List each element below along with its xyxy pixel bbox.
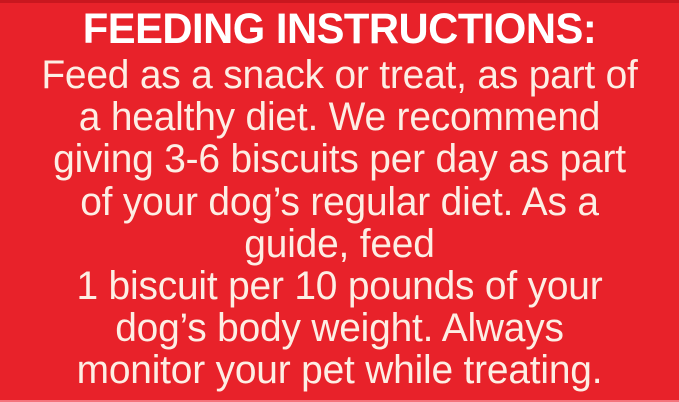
body-line: 1 biscuit per 10 pounds of your [5,265,674,307]
panel-content: FEEDING INSTRUCTIONS: Feed as a snack or… [0,0,679,402]
body-line: of your dog’s regular diet. As a [5,181,674,223]
feeding-instructions-body: Feed as a snack or treat, as part of a h… [0,54,679,392]
body-line: a healthy diet. We recommend [5,96,674,138]
feeding-instructions-heading: FEEDING INSTRUCTIONS: [10,6,669,52]
body-line: guide, feed [5,223,674,265]
body-line: monitor your pet while treating. [5,349,674,391]
body-line: giving 3-6 biscuits per day as part [5,138,674,180]
feeding-instructions-panel: FEEDING INSTRUCTIONS: Feed as a snack or… [0,0,679,402]
body-line: Feed as a snack or treat, as part of [5,54,674,96]
body-line: dog’s body weight. Always [5,307,674,349]
